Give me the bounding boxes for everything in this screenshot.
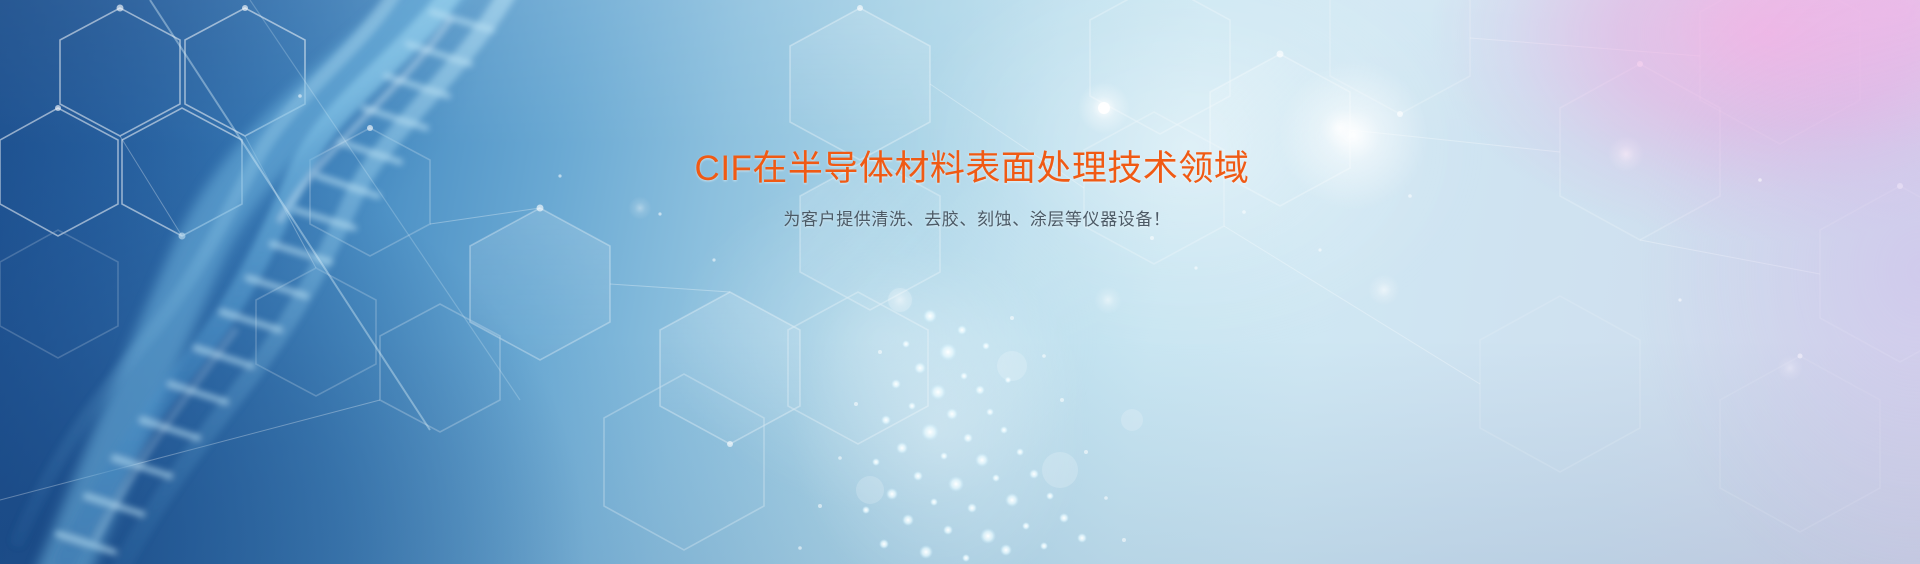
banner-subtitle: 为客户提供清洗、去胶、刻蚀、涂层等仪器设备！ (0, 208, 1920, 232)
light-bloom-center (0, 0, 1920, 564)
hero-text-block: CIF在半导体材料表面处理技术领域 为客户提供清洗、去胶、刻蚀、涂层等仪器设备！ (0, 148, 1920, 232)
hero-banner: CIF在半导体材料表面处理技术领域 为客户提供清洗、去胶、刻蚀、涂层等仪器设备！ (0, 0, 1920, 564)
banner-headline: CIF在半导体材料表面处理技术领域 (0, 148, 1920, 190)
